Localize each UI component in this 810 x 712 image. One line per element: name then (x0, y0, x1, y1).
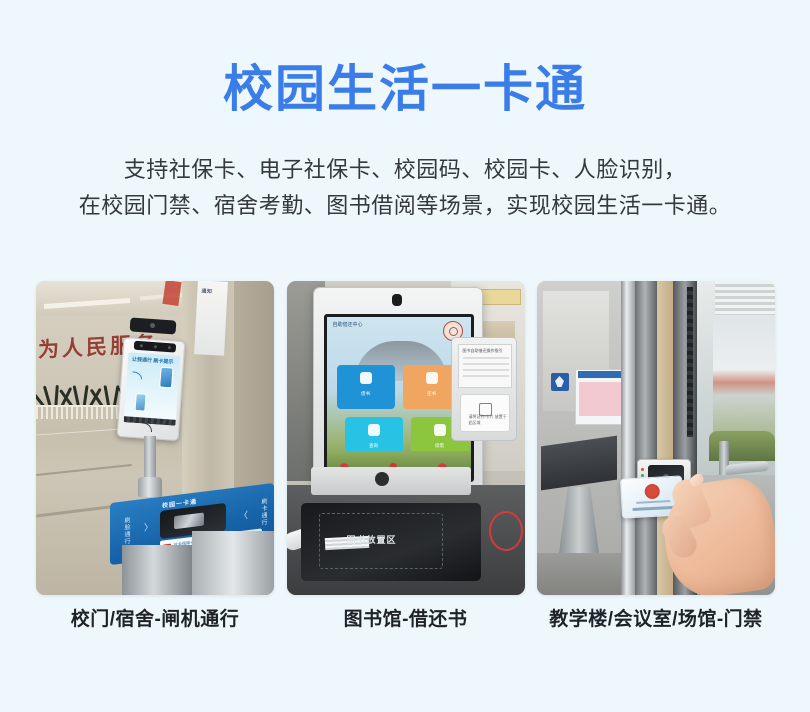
arrow-left-icon: 〈 (239, 508, 248, 522)
camera-icon (134, 341, 177, 353)
photo-door-access (537, 281, 775, 595)
kiosk-tile-borrow-label: 借书 (361, 391, 370, 397)
deck-sensor-icon (375, 472, 389, 486)
highlight-circle (489, 511, 523, 551)
terminal-pole-base (138, 477, 162, 497)
door-frame-mid (635, 281, 657, 595)
face-recognition-terminal[interactable]: 让我通行 刷卡提示 (117, 337, 186, 441)
caption-gate: 校门/宿舍-闸机通行 (36, 606, 274, 634)
card-reader-label: 请将证件/卡片 放置于此区域 (469, 414, 509, 426)
marketing-page: 校园生活一卡通 支持社保卡、电子社保卡、校园码、校园卡、人脸识别， 在校园门禁、… (0, 0, 810, 712)
kiosk-tile-renew-label: 续借 (435, 443, 444, 449)
door-frame-left (621, 281, 635, 595)
national-emblem-icon (644, 484, 660, 500)
hanging-notice: 通知 (194, 281, 228, 356)
book-placement-label: 图书放置区 (347, 533, 397, 546)
caption-row: 校门/宿舍-闸机通行 图书馆-借还书 教学楼/会议室/场馆-门禁 (36, 606, 775, 634)
renew-icon (434, 424, 446, 436)
photo-library-kiosk: 自助借还中心 借书 还书 (287, 281, 525, 595)
caption-library: 图书馆-借还书 (287, 606, 525, 634)
instruction-notice-title: 图书自助借还操作指引 (463, 348, 503, 354)
phone-illustration-icon (159, 367, 173, 389)
card-text-line-1 (636, 500, 670, 504)
caption-door: 教学楼/会议室/场馆-门禁 (537, 606, 775, 634)
gate-right-label: 刷卡通行 (259, 498, 268, 527)
terminal-screen[interactable]: 让我通行 刷卡提示 (124, 352, 181, 425)
gallery-item-gate: 为人民服务 通知 (36, 281, 274, 595)
gallery-item-library: 自助借还中心 借书 还书 (287, 281, 525, 595)
kiosk-camera-icon (392, 294, 402, 306)
nfc-icon (135, 421, 164, 435)
subtitle-line-1: 支持社保卡、电子社保卡、校园码、校园卡、人脸识别， (0, 152, 810, 188)
turnstile-pedestal-2 (192, 531, 274, 595)
search-icon (368, 424, 380, 436)
direction-sign-icon (551, 373, 569, 391)
card-reader-zone[interactable]: 请将证件/卡片 放置于此区域 (460, 394, 510, 432)
book-placement-plate[interactable]: 图书放置区 (301, 503, 481, 581)
kiosk-menu-tiles: 借书 还书 查询 续借 (337, 365, 467, 465)
turnstile-pedestal (122, 545, 192, 595)
gallery-item-door (537, 281, 775, 595)
kiosk-tile-borrow[interactable]: 借书 (337, 365, 395, 409)
subtitle-line-2: 在校园门禁、宿舍考勤、图书借阅等场景，实现校园生活一卡通。 (0, 188, 810, 224)
kiosk-tile-return-label: 还书 (427, 391, 436, 397)
notice-board (575, 369, 625, 425)
instruction-notice: 图书自助借还操作指引 (458, 344, 512, 388)
phone-illustration-icon-2 (134, 393, 146, 412)
interior-floor (537, 553, 629, 595)
kiosk-screen-title: 自助借还中心 (333, 322, 363, 329)
return-icon (426, 372, 438, 384)
wifi-wave-icon (132, 371, 142, 381)
wall-instruction-panel: 图书自助借还操作指引 请将证件/卡片 放置于此区域 (451, 337, 517, 441)
card-text-line-2 (633, 506, 675, 511)
book-icon (360, 372, 372, 384)
photo-gate-turnstile: 为人民服务 通知 (36, 281, 274, 595)
gate-left-label: 刷脸通行 (122, 516, 131, 545)
page-subtitle: 支持社保卡、电子社保卡、校园码、校园卡、人脸识别， 在校园门禁、宿舍考勤、图书借… (0, 152, 810, 224)
page-title: 校园生活一卡通 (0, 58, 810, 120)
kiosk-tile-search-label: 查询 (369, 443, 378, 449)
status-led-icon (641, 468, 644, 471)
red-banner (162, 281, 181, 306)
window-blinds (715, 281, 775, 315)
outdoor-view (713, 315, 775, 445)
door-seal-strip (687, 287, 693, 437)
photo-gallery: 为人民服务 通知 (36, 281, 775, 595)
arrow-right-icon: 〉 (144, 520, 153, 534)
terminal-screen-text: 让我通行 刷卡提示 (132, 357, 174, 367)
kiosk-deck-top (311, 467, 471, 495)
